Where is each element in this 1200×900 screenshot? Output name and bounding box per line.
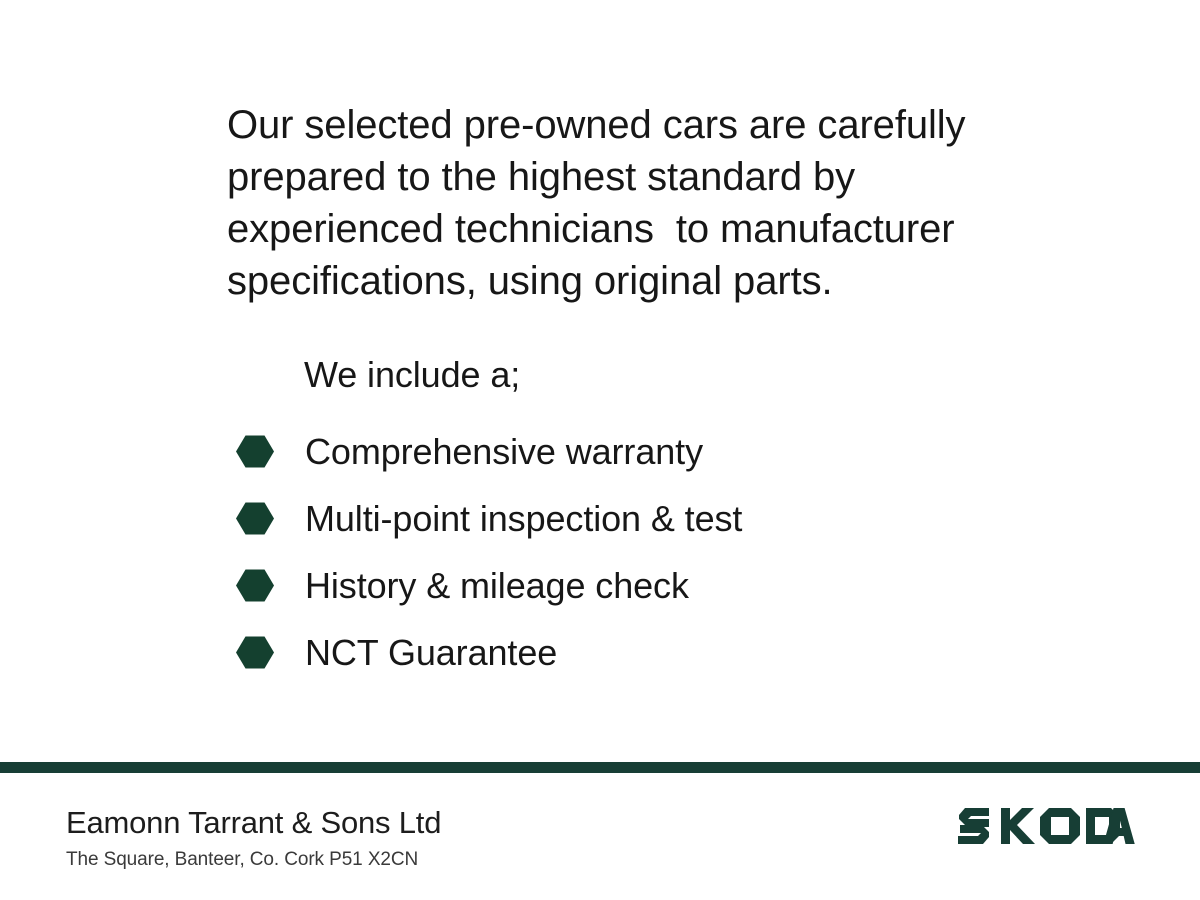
hexagon-bullet-icon	[236, 435, 274, 469]
skoda-logo-icon	[958, 805, 1138, 847]
footer: Eamonn Tarrant & Sons Ltd The Square, Ba…	[0, 773, 1200, 900]
promo-slide: Our selected pre-owned cars are carefull…	[0, 0, 1200, 900]
benefits-list: Comprehensive warranty Multi-point inspe…	[236, 418, 1036, 686]
dealer-name: Eamonn Tarrant & Sons Ltd	[66, 804, 441, 842]
main-content: Our selected pre-owned cars are carefull…	[0, 0, 1200, 762]
benefit-label: Comprehensive warranty	[305, 432, 703, 472]
hexagon-bullet-icon	[236, 569, 274, 603]
benefit-label: History & mileage check	[305, 566, 689, 606]
list-item: History & mileage check	[236, 552, 1036, 619]
divider-bar	[0, 762, 1200, 773]
dealer-address: The Square, Banteer, Co. Cork P51 X2CN	[66, 848, 441, 872]
include-label: We include a;	[304, 352, 520, 398]
benefit-label: NCT Guarantee	[305, 633, 557, 673]
headline-text: Our selected pre-owned cars are carefull…	[227, 99, 1017, 307]
hexagon-bullet-icon	[236, 636, 274, 670]
dealer-info: Eamonn Tarrant & Sons Ltd The Square, Ba…	[66, 804, 441, 872]
benefit-label: Multi-point inspection & test	[305, 499, 742, 539]
list-item: Comprehensive warranty	[236, 418, 1036, 485]
skoda-wordmark-logo	[958, 805, 1138, 847]
list-item: NCT Guarantee	[236, 619, 1036, 686]
list-item: Multi-point inspection & test	[236, 485, 1036, 552]
hexagon-bullet-icon	[236, 502, 274, 536]
